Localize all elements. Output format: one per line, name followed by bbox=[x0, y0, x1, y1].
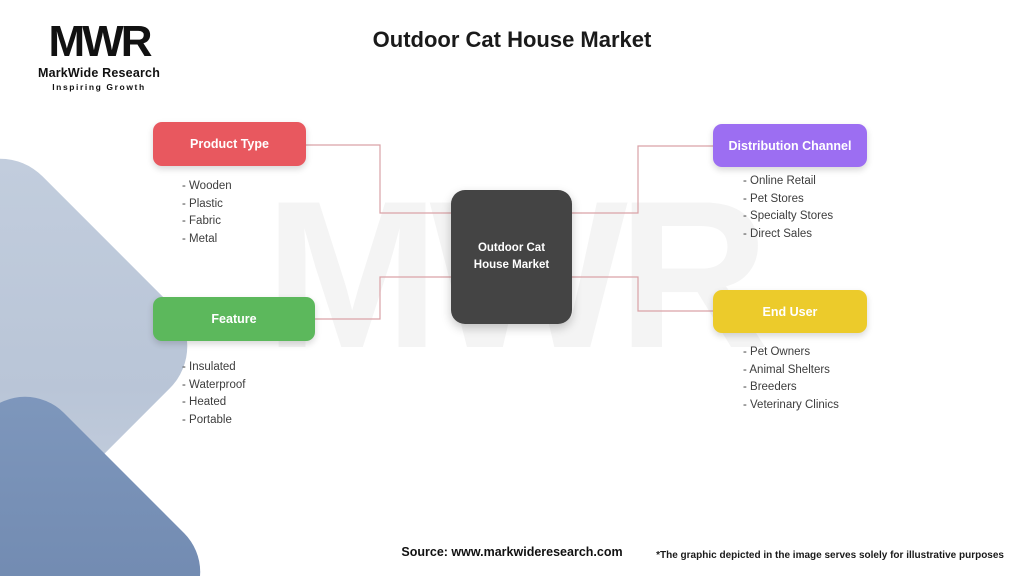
connector-end-user bbox=[572, 277, 713, 311]
list-feature: - Insulated - Waterproof - Heated - Port… bbox=[182, 359, 245, 429]
list-end-user: - Pet Owners - Animal Shelters - Breeder… bbox=[743, 344, 839, 414]
list-item: - Breeders bbox=[743, 379, 839, 397]
list-item: - Online Retail bbox=[743, 173, 833, 191]
list-item: - Pet Stores bbox=[743, 191, 833, 209]
node-end-user[interactable]: End User bbox=[713, 290, 867, 333]
list-item: - Animal Shelters bbox=[743, 362, 839, 380]
list-item: - Specialty Stores bbox=[743, 208, 833, 226]
connector-product-type bbox=[306, 145, 451, 213]
list-distribution-channel: - Online Retail - Pet Stores - Specialty… bbox=[743, 173, 833, 243]
node-product-type[interactable]: Product Type bbox=[153, 122, 306, 166]
list-item: - Insulated bbox=[182, 359, 245, 377]
list-item: - Veterinary Clinics bbox=[743, 397, 839, 415]
logo-company-name: MarkWide Research bbox=[14, 66, 184, 80]
list-item: - Plastic bbox=[182, 196, 232, 214]
logo-tagline: Inspiring Growth bbox=[14, 82, 184, 92]
page-title: Outdoor Cat House Market bbox=[0, 27, 1024, 53]
list-item: - Heated bbox=[182, 394, 245, 412]
connector-distribution-channel bbox=[572, 146, 713, 213]
node-feature[interactable]: Feature bbox=[153, 297, 315, 341]
list-item: - Metal bbox=[182, 231, 232, 249]
list-item: - Pet Owners bbox=[743, 344, 839, 362]
connector-feature bbox=[315, 277, 451, 319]
node-center-market[interactable]: Outdoor Cat House Market bbox=[451, 190, 572, 324]
disclaimer-text: *The graphic depicted in the image serve… bbox=[656, 550, 1004, 561]
list-item: - Wooden bbox=[182, 178, 232, 196]
node-distribution-channel[interactable]: Distribution Channel bbox=[713, 124, 867, 167]
list-item: - Waterproof bbox=[182, 377, 245, 395]
list-item: - Fabric bbox=[182, 213, 232, 231]
list-item: - Portable bbox=[182, 412, 245, 430]
list-item: - Direct Sales bbox=[743, 226, 833, 244]
list-product-type: - Wooden - Plastic - Fabric - Metal bbox=[182, 178, 232, 248]
